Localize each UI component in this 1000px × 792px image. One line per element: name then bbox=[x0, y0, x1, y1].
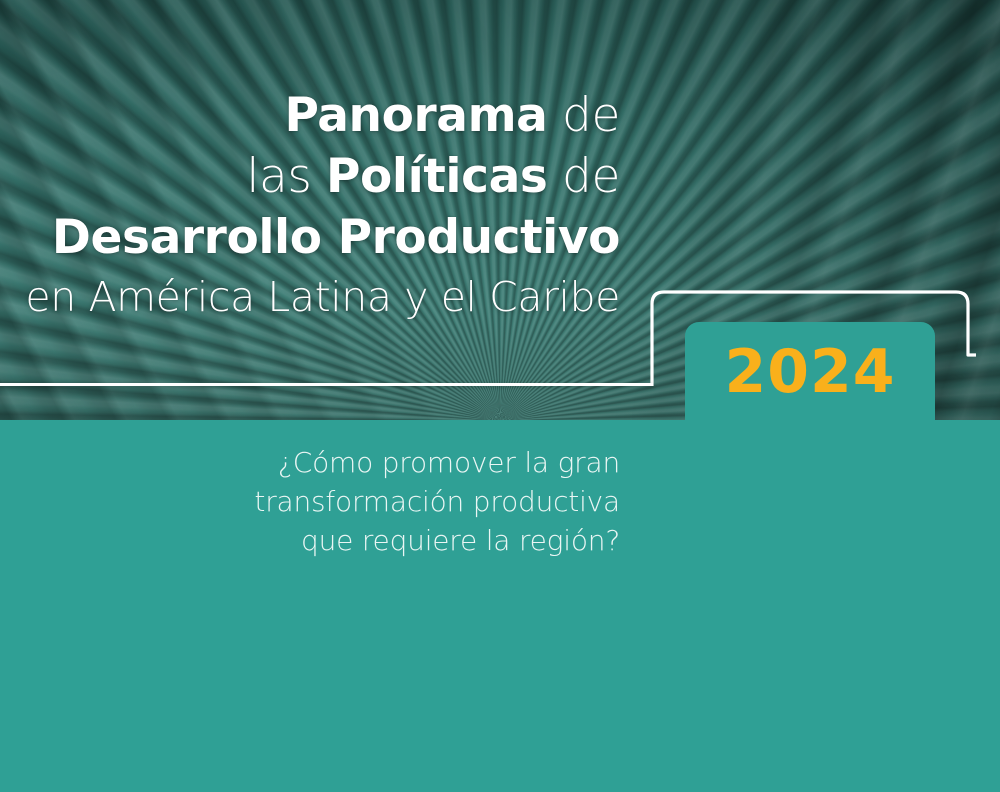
title-line-1-bold: Panorama bbox=[284, 88, 547, 143]
title-line-3-bold: Desarrollo Productivo bbox=[52, 210, 620, 265]
title-line-1: Panorama de bbox=[0, 92, 620, 139]
title-line-4: en América Latina y el Caribe bbox=[0, 277, 620, 318]
year-badge-label: 2024 bbox=[685, 322, 935, 427]
report-cover: 2024 Panorama de las Políticas de Desarr… bbox=[0, 0, 1000, 792]
title-underline-rule bbox=[0, 383, 653, 386]
title-line-2-bold: Políticas bbox=[326, 149, 548, 204]
cover-subtitle: ¿Cómo promover la gran transformación pr… bbox=[0, 444, 620, 561]
title-line-4-light: en América Latina y el Caribe bbox=[25, 273, 620, 321]
subtitle-line-3: que requiere la región? bbox=[0, 522, 620, 561]
subtitle-line-1: ¿Cómo promover la gran bbox=[0, 444, 620, 483]
title-line-3: Desarrollo Productivo bbox=[0, 214, 620, 261]
title-line-2: las Políticas de bbox=[0, 153, 620, 200]
title-line-2-light: de bbox=[548, 149, 621, 204]
year-badge: 2024 bbox=[685, 322, 935, 427]
title-line-2-lead: las bbox=[246, 149, 326, 204]
subtitle-line-2: transformación productiva bbox=[0, 483, 620, 522]
page-title: Panorama de las Políticas de Desarrollo … bbox=[0, 92, 620, 318]
title-line-1-light: de bbox=[548, 88, 621, 143]
